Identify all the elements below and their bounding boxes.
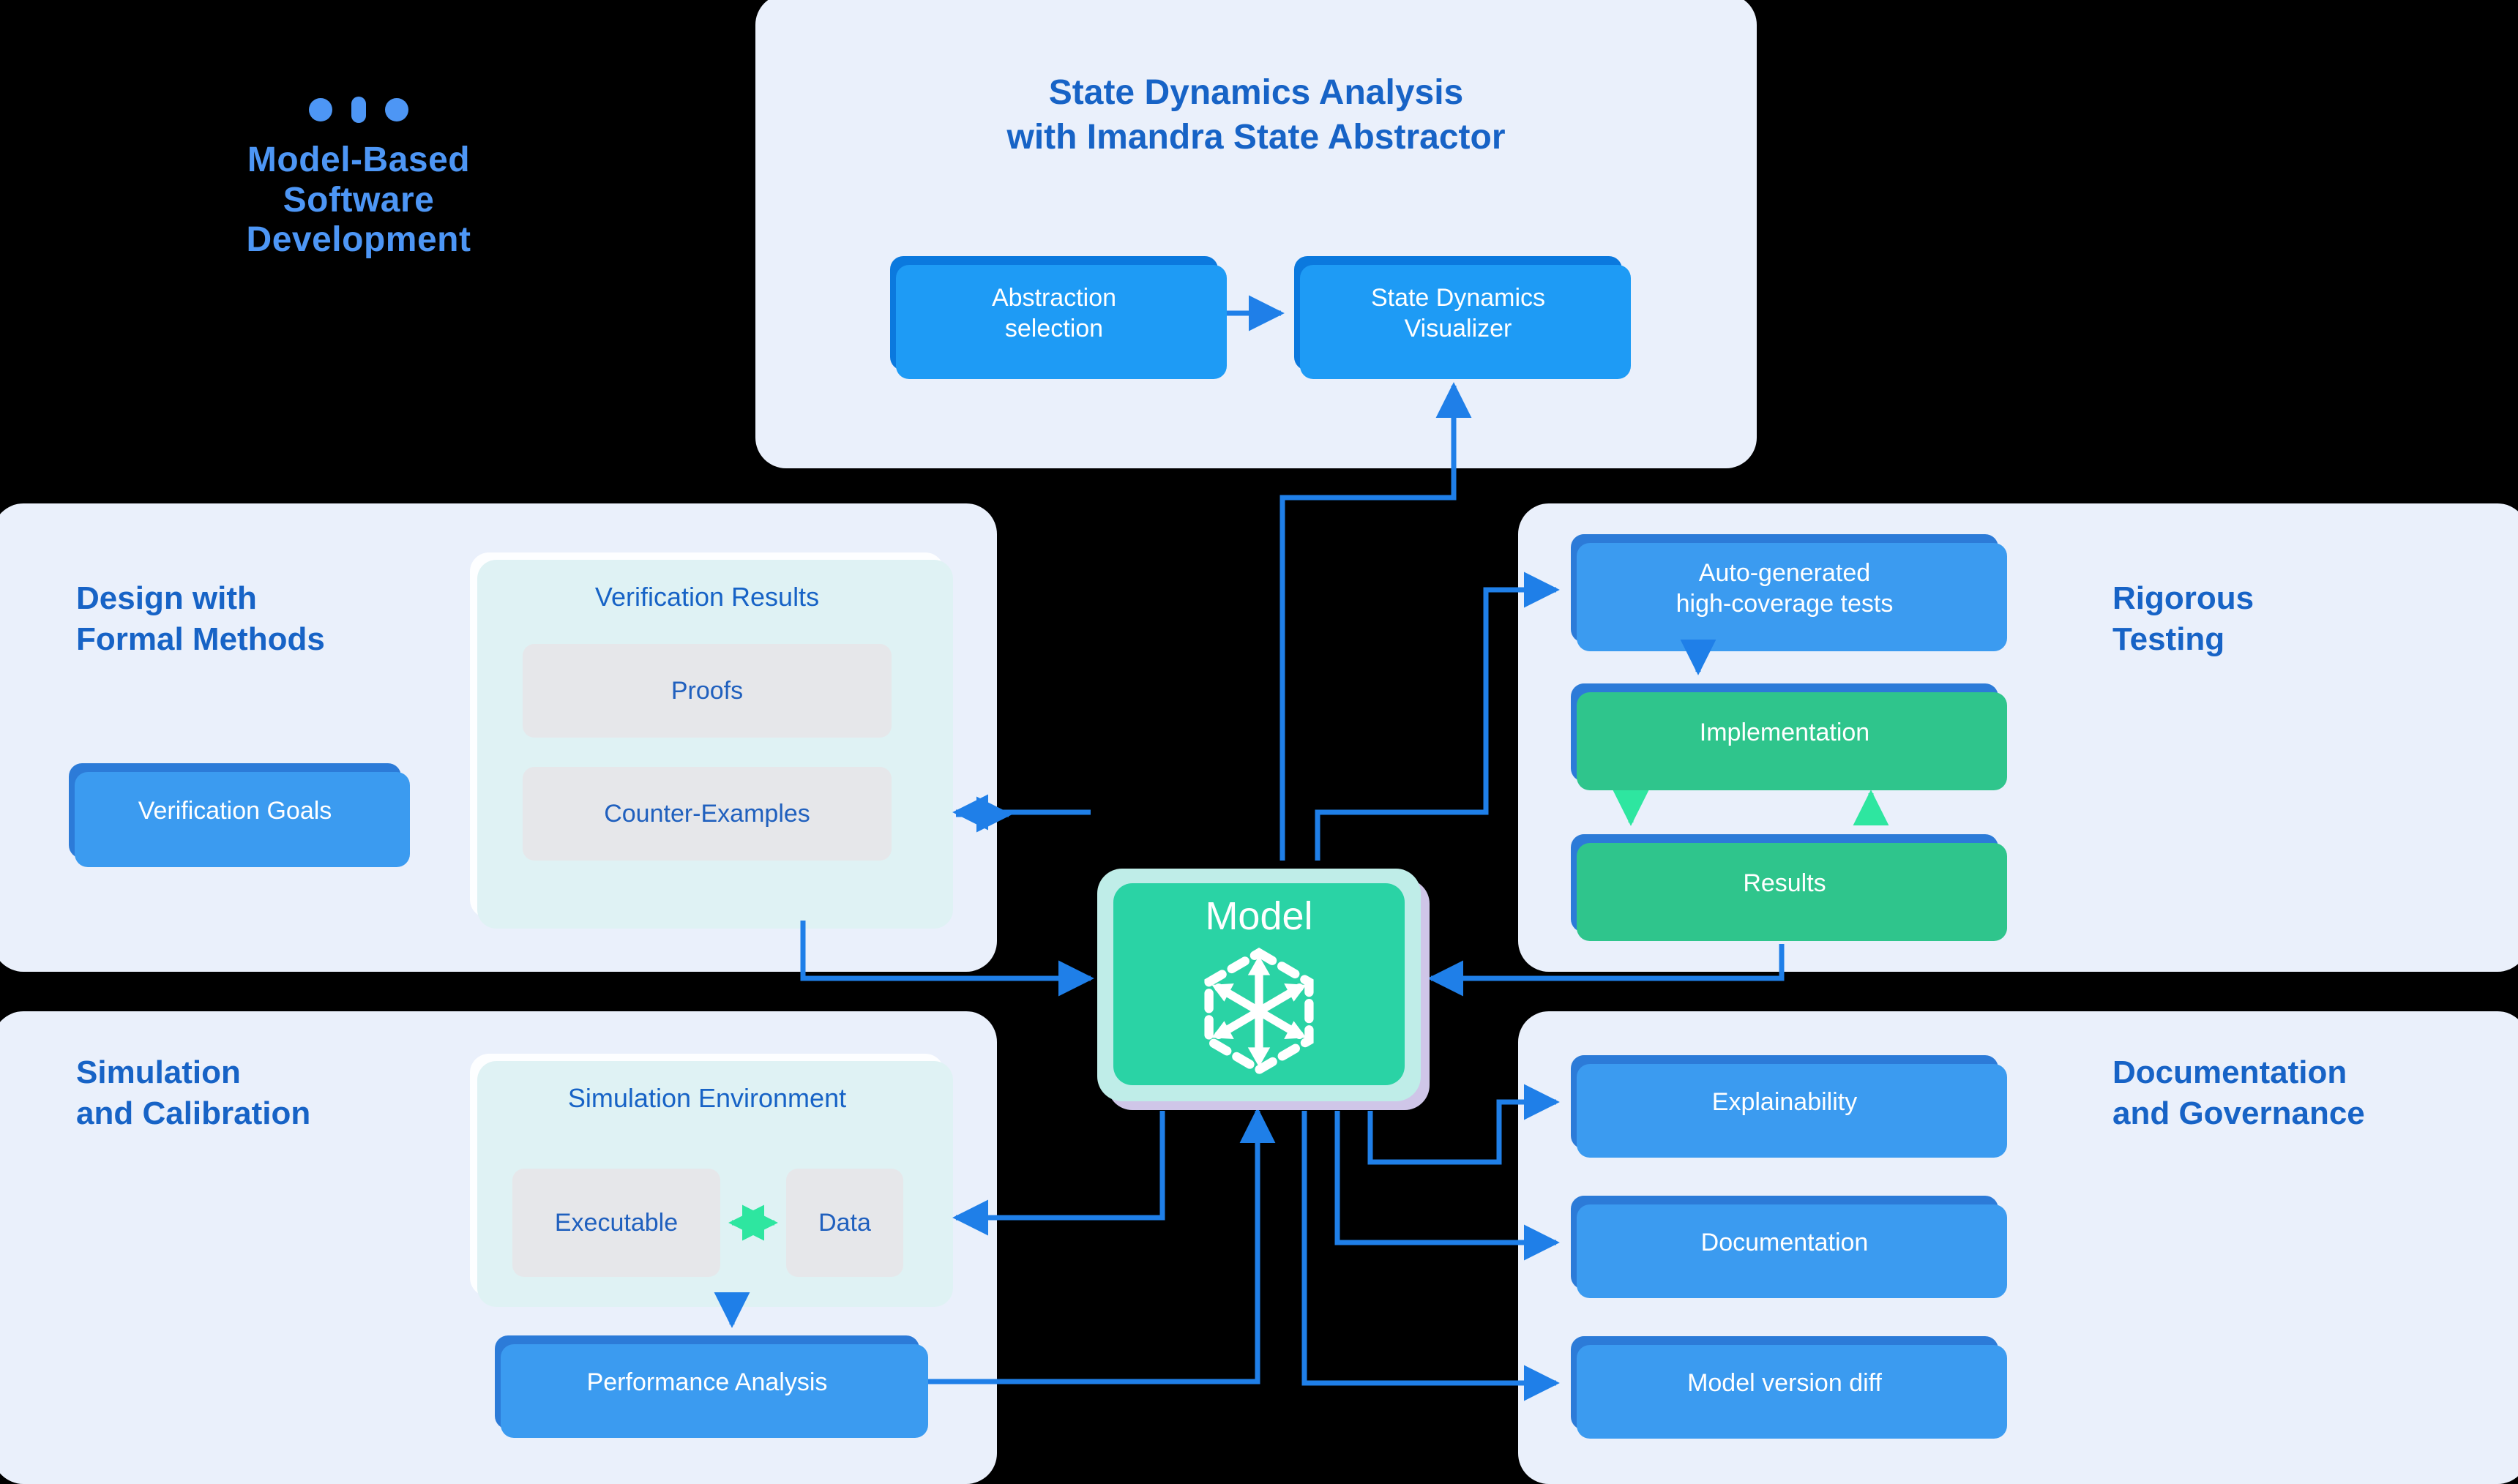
box-proofs[interactable]: Proofs (523, 644, 892, 738)
panel-title-design: Design with Formal Methods (76, 578, 325, 661)
card-title-simulation-environment: Simulation Environment (470, 1083, 944, 1114)
box-documentation[interactable]: Documentation (1571, 1196, 1998, 1289)
panel-title-testing: Rigorous Testing (2112, 578, 2254, 661)
model-node[interactable]: Model (1097, 869, 1421, 1101)
logo-text: Model-Based Software Development (227, 140, 490, 261)
logo-dots-icon (227, 95, 490, 124)
logo-dot-circle-right-icon (385, 98, 408, 121)
dashed-hexagon-radiating-arrows-icon (1189, 942, 1329, 1084)
box-data[interactable]: Data (786, 1169, 903, 1277)
brand-logo: Model-Based Software Development (227, 95, 490, 261)
box-executable[interactable]: Executable (512, 1169, 720, 1277)
panel-title-documentation: Documentation and Governance (2112, 1052, 2365, 1135)
box-implementation[interactable]: Implementation (1571, 683, 1998, 782)
box-model-version-diff[interactable]: Model version diff (1571, 1336, 1998, 1430)
box-explainability[interactable]: Explainability (1571, 1055, 1998, 1149)
logo-dot-circle-left-icon (309, 98, 332, 121)
box-abstraction-selection[interactable]: Abstraction selection (890, 256, 1218, 370)
box-auto-generated-tests[interactable]: Auto-generated high-coverage tests (1571, 534, 1998, 642)
panel-title-state-dynamics: State Dynamics Analysis with Imandra Sta… (755, 70, 1757, 160)
box-performance-analysis[interactable]: Performance Analysis (495, 1335, 919, 1429)
card-title-verification-results: Verification Results (470, 582, 944, 612)
model-node-body: Model (1113, 883, 1405, 1085)
box-counter-examples[interactable]: Counter-Examples (523, 767, 892, 861)
logo-dot-pill-middle-icon (351, 97, 366, 123)
diagram-canvas: Model-Based Software Development State D… (0, 0, 2518, 1477)
panel-title-simulation: Simulation and Calibration (76, 1052, 310, 1135)
model-node-label: Model (1205, 893, 1312, 939)
box-verification-goals[interactable]: Verification Goals (69, 763, 401, 858)
box-state-dynamics-visualizer[interactable]: State Dynamics Visualizer (1294, 256, 1622, 370)
box-results[interactable]: Results (1571, 834, 1998, 932)
